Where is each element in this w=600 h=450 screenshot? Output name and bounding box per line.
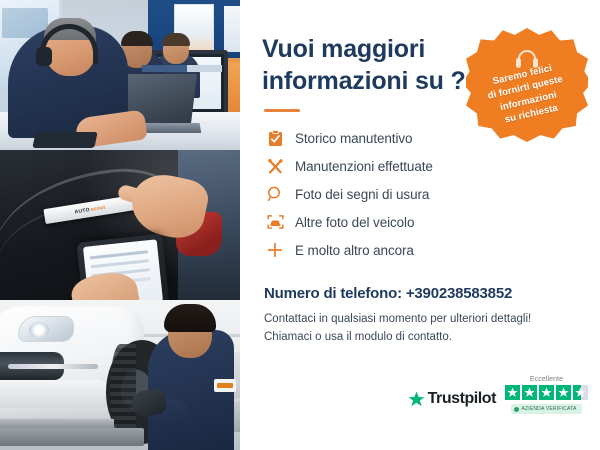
car-bumper bbox=[0, 380, 112, 408]
content-panel: Vuoi maggiori informazioni su ? Saremo f… bbox=[240, 0, 600, 450]
background-agent-center-hair bbox=[121, 31, 153, 46]
plus-icon bbox=[266, 241, 284, 259]
contact-line-2: Chiamaci o usa il modulo di contatto. bbox=[264, 331, 452, 343]
verified-check-icon bbox=[514, 407, 519, 412]
verified-label: AZIENDA VERIFICATA bbox=[521, 406, 576, 412]
headset-earcup bbox=[36, 47, 52, 66]
wrench-screwdriver-icon bbox=[266, 157, 284, 175]
list-item-foto-segni-usura: Foto dei segni di usura bbox=[266, 181, 574, 207]
advert-banner: AUTOscout bbox=[0, 0, 600, 450]
list-item-altre-foto-veicolo: Altre foto del veicolo bbox=[266, 209, 574, 235]
trustpilot-star-3 bbox=[539, 385, 554, 400]
trustpilot-star-4 bbox=[556, 385, 571, 400]
clipboard-check-icon bbox=[266, 129, 284, 147]
trustpilot-star-icon bbox=[408, 391, 425, 408]
trustpilot-rating[interactable]: Trustpilot Eccellente bbox=[408, 376, 588, 414]
phone-number[interactable]: +390238583852 bbox=[406, 285, 512, 302]
list-item-label: Foto dei segni di usura bbox=[295, 187, 429, 202]
headline-line-1: Vuoi maggiori bbox=[262, 35, 425, 63]
page-title: Vuoi maggiori informazioni su ? bbox=[262, 34, 472, 97]
vehicle-lift-arm bbox=[0, 419, 114, 428]
uniform-logo-patch bbox=[214, 379, 236, 392]
headline-line-2: informazioni su ? bbox=[262, 67, 466, 95]
monitor-screen-row bbox=[142, 65, 222, 72]
photo-mechanic-inspecting-wheel-of-white-car-on-lift bbox=[0, 300, 240, 450]
photo-technician-measuring-car-paint-with-tablet: AUTOscout bbox=[0, 150, 240, 300]
trustpilot-star-5-partial bbox=[573, 385, 588, 400]
trustpilot-star-2 bbox=[522, 385, 537, 400]
trustpilot-star-1 bbox=[505, 385, 520, 400]
headset-earcup-left bbox=[516, 58, 521, 68]
car-scan-icon bbox=[266, 213, 284, 231]
car-chrome-trim bbox=[8, 364, 98, 369]
photo-column: AUTOscout bbox=[0, 0, 240, 450]
desk-tablet bbox=[32, 132, 97, 148]
list-item-label: Manutenzioni effettuate bbox=[295, 159, 433, 174]
trustpilot-score: Eccellente bbox=[505, 376, 588, 414]
status-badge-verified-company: AZIENDA VERIFICATA bbox=[511, 404, 581, 414]
magnifier-icon bbox=[266, 185, 284, 203]
trustpilot-stars bbox=[505, 385, 588, 400]
vehicle-lift-platform bbox=[0, 428, 144, 446]
trustpilot-rating-label: Eccellente bbox=[530, 376, 563, 383]
list-item-manutenzioni-effettuate: Manutenzioni effettuate bbox=[266, 153, 574, 179]
background-agent-right-hair bbox=[162, 33, 190, 46]
wall-poster-secondary bbox=[224, 6, 240, 52]
phone-line[interactable]: Numero di telefono: +390238583852 bbox=[264, 285, 574, 302]
list-item-molto-altro: E molto altro ancora bbox=[266, 237, 574, 263]
request-info-badge: Saremo felici di fornirti queste informa… bbox=[466, 28, 588, 142]
contact-line-1: Contattaci in qualsiasi momento per ulte… bbox=[264, 313, 531, 325]
list-item-label: Storico manutentivo bbox=[295, 131, 412, 146]
car-headlight bbox=[18, 316, 74, 342]
feature-list: Storico manutentivo Manutenzioni effettu… bbox=[266, 125, 574, 263]
list-item-label: Altre foto del veicolo bbox=[295, 215, 414, 230]
photo-call-center-agents-with-headsets bbox=[0, 0, 240, 150]
phone-block: Numero di telefono: +390238583852 Contat… bbox=[264, 285, 574, 347]
contact-text: Contattaci in qualsiasi momento per ulte… bbox=[264, 311, 574, 347]
trustpilot-wordmark: Trustpilot bbox=[428, 390, 496, 408]
list-item-label: E molto altro ancora bbox=[295, 243, 414, 258]
phone-label: Numero di telefono: bbox=[264, 285, 402, 302]
trustpilot-logo[interactable]: Trustpilot bbox=[408, 390, 496, 414]
headline-divider bbox=[264, 109, 300, 112]
mechanic-hair bbox=[164, 304, 216, 332]
